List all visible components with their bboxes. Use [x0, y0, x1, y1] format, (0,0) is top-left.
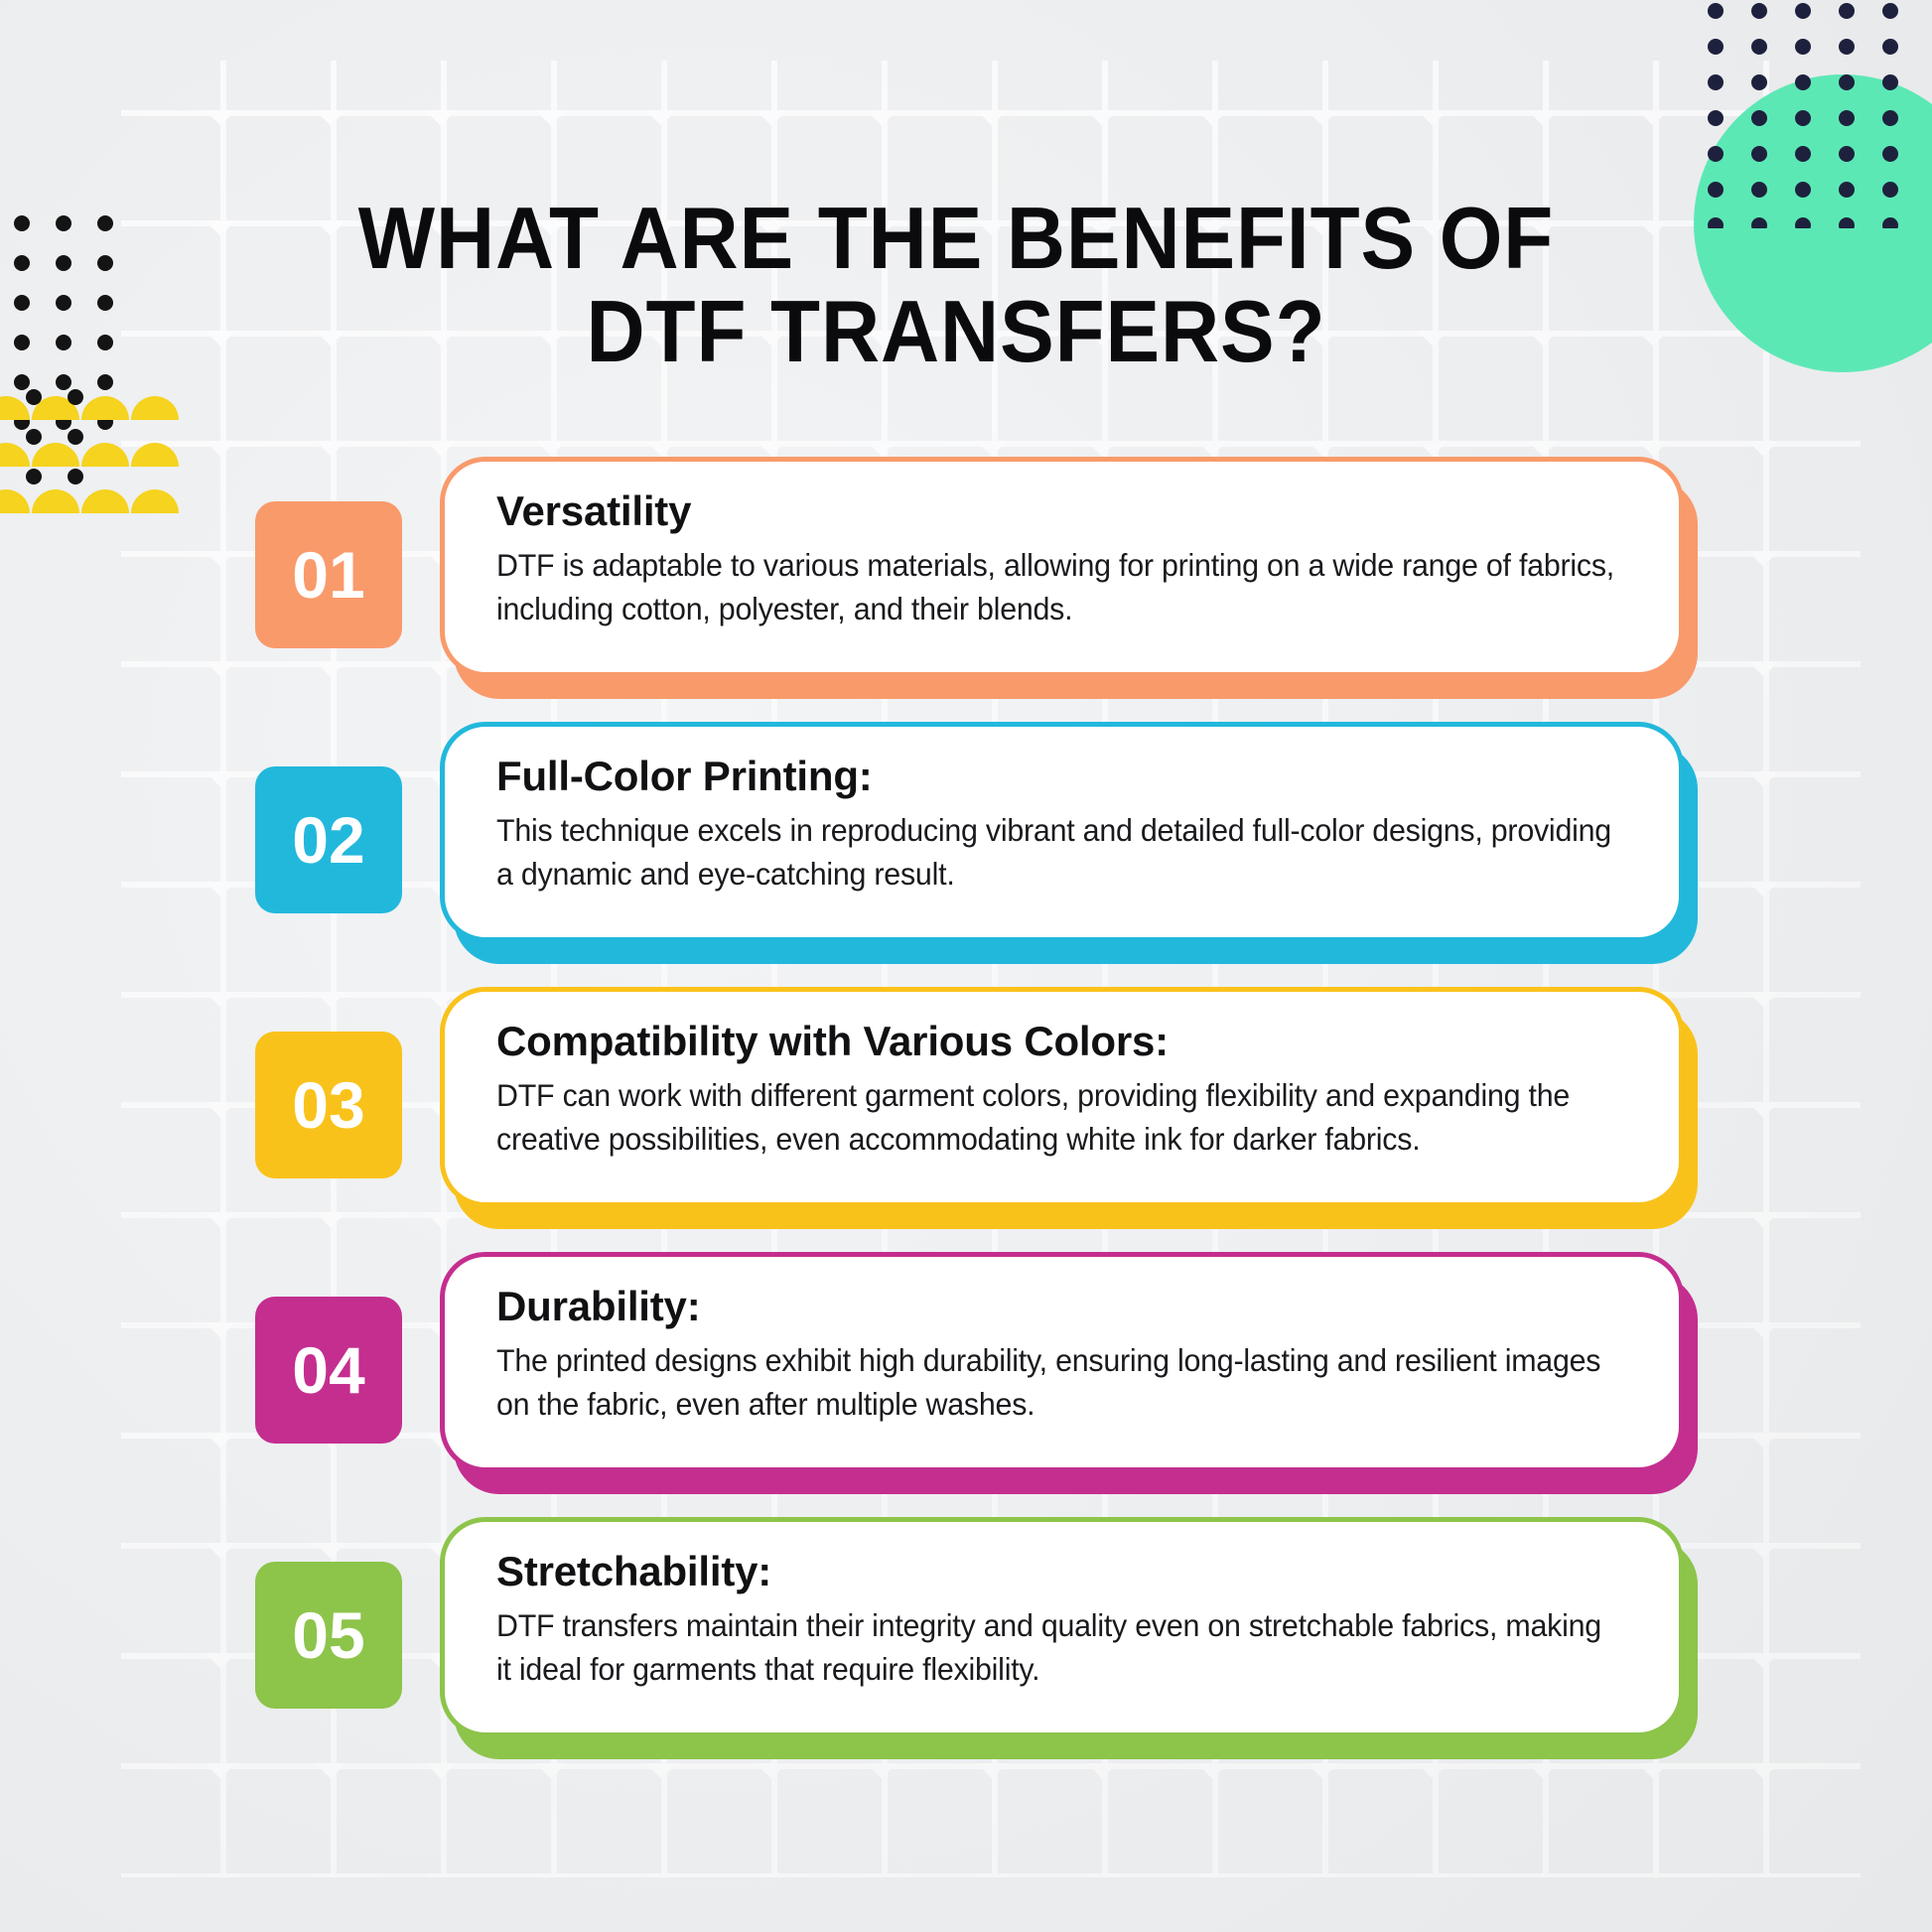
- card-title-05: Stretchability:: [496, 1548, 1635, 1594]
- card-surface-01: Versatility DTF is adaptable to various …: [440, 457, 1684, 677]
- number-badge-02: 02: [255, 766, 402, 913]
- card-surface-02: Full-Color Printing: This technique exce…: [440, 722, 1684, 942]
- card-title-03: Compatibility with Various Colors:: [496, 1018, 1635, 1064]
- benefit-row-04: 04 Durability: The printed designs exhib…: [0, 1252, 1932, 1517]
- benefit-row-03: 03 Compatibility with Various Colors: DT…: [0, 987, 1932, 1252]
- card-body-03: DTF can work with different garment colo…: [496, 1073, 1622, 1161]
- benefits-card-list: 01 Versatility DTF is adaptable to vario…: [0, 457, 1932, 1782]
- benefit-row-01: 01 Versatility DTF is adaptable to vario…: [0, 457, 1932, 722]
- number-badge-05: 05: [255, 1562, 402, 1709]
- card-title-02: Full-Color Printing:: [496, 753, 1635, 799]
- card-surface-03: Compatibility with Various Colors: DTF c…: [440, 987, 1684, 1207]
- number-badge-label: 03: [292, 1067, 364, 1143]
- benefit-card-04[interactable]: Durability: The printed designs exhibit …: [440, 1252, 1684, 1472]
- card-body-04: The printed designs exhibit high durabil…: [496, 1338, 1622, 1426]
- infographic-content: WHAT ARE THE BENEFITS OF DTF TRANSFERS? …: [0, 0, 1932, 1932]
- number-badge-label: 05: [292, 1597, 364, 1673]
- benefit-row-02: 02 Full-Color Printing: This technique e…: [0, 722, 1932, 987]
- number-badge-04: 04: [255, 1297, 402, 1444]
- card-body-01: DTF is adaptable to various materials, a…: [496, 543, 1622, 630]
- card-body-02: This technique excels in reproducing vib…: [496, 808, 1622, 896]
- benefit-card-01[interactable]: Versatility DTF is adaptable to various …: [440, 457, 1684, 677]
- benefit-card-05[interactable]: Stretchability: DTF transfers maintain t…: [440, 1517, 1684, 1737]
- card-title-04: Durability:: [496, 1283, 1635, 1329]
- number-badge-label: 02: [292, 802, 364, 878]
- card-body-05: DTF transfers maintain their integrity a…: [496, 1603, 1622, 1691]
- benefit-row-05: 05 Stretchability: DTF transfers maintai…: [0, 1517, 1932, 1782]
- number-badge-label: 04: [292, 1332, 364, 1408]
- benefit-card-02[interactable]: Full-Color Printing: This technique exce…: [440, 722, 1684, 942]
- card-surface-05: Stretchability: DTF transfers maintain t…: [440, 1517, 1684, 1737]
- benefit-card-03[interactable]: Compatibility with Various Colors: DTF c…: [440, 987, 1684, 1207]
- number-badge-03: 03: [255, 1032, 402, 1178]
- number-badge-01: 01: [255, 501, 402, 648]
- card-surface-04: Durability: The printed designs exhibit …: [440, 1252, 1684, 1472]
- card-title-01: Versatility: [496, 487, 1635, 534]
- page-title: WHAT ARE THE BENEFITS OF DTF TRANSFERS?: [291, 192, 1620, 378]
- number-badge-label: 01: [292, 537, 364, 613]
